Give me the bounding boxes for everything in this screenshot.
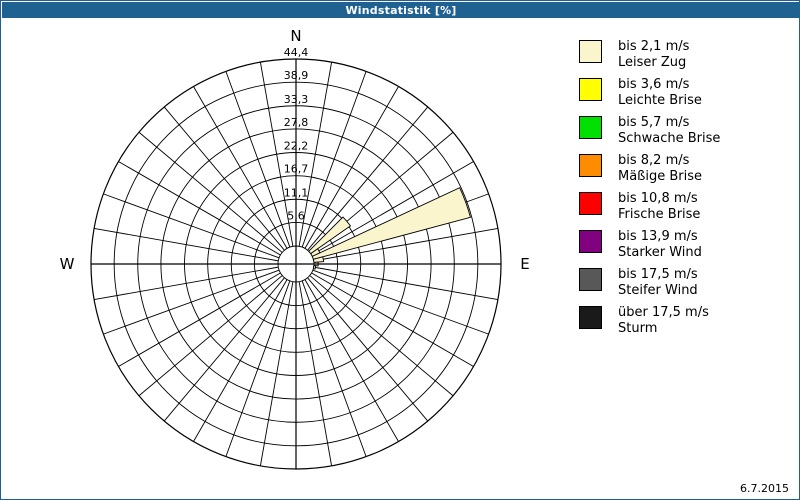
legend-swatch	[579, 230, 602, 253]
compass-label-north: N	[290, 27, 301, 45]
legend-name: Leiser Zug	[618, 55, 689, 71]
legend-swatch	[579, 116, 602, 139]
legend-speed: bis 13,9 m/s	[618, 229, 702, 245]
legend-item: bis 10,8 m/sFrische Brise	[579, 191, 793, 223]
legend-speed: bis 3,6 m/s	[618, 77, 702, 93]
legend-item: bis 17,5 m/sSteifer Wind	[579, 267, 793, 299]
grid-spoke	[314, 267, 498, 299]
compass-label-west: W	[60, 255, 75, 273]
grid-spoke	[299, 282, 331, 466]
r-tick-label: 27,8	[284, 116, 309, 129]
grid-spoke	[260, 282, 292, 466]
legend-item: bis 3,6 m/sLeichte Brise	[579, 77, 793, 109]
legend-item: bis 8,2 m/sMäßige Brise	[579, 153, 793, 185]
legend-label: bis 17,5 m/sSteifer Wind	[618, 267, 698, 299]
legend-label: bis 8,2 m/sMäßige Brise	[618, 153, 702, 185]
legend-label: bis 13,9 m/sStarker Wind	[618, 229, 702, 261]
r-tick-label: 16,7	[284, 163, 309, 176]
legend-name: Schwache Brise	[618, 131, 720, 147]
grid-spoke	[94, 228, 278, 260]
window-title-bar: Windstatistik [%]	[2, 2, 800, 18]
legend-item: über 17,5 m/sSturm	[579, 305, 793, 337]
legend-label: bis 2,1 m/sLeiser Zug	[618, 39, 689, 71]
legend-speed: bis 17,5 m/s	[618, 267, 698, 283]
windrose-svg: 5,611,116,722,227,833,338,944,4NESW	[2, 18, 562, 483]
grid-spoke	[139, 132, 282, 252]
grid-spoke	[94, 267, 278, 299]
grid-spoke	[139, 276, 282, 396]
grid-spoke	[164, 107, 284, 250]
legend-speed: bis 5,7 m/s	[618, 115, 720, 131]
legend-swatch	[579, 268, 602, 291]
legend-speed: bis 10,8 m/s	[618, 191, 700, 207]
legend-swatch	[579, 306, 602, 329]
grid-spoke	[310, 276, 453, 396]
r-tick-label: 44,4	[284, 46, 309, 59]
legend-swatch	[579, 192, 602, 215]
r-tick-label: 33,3	[284, 93, 309, 106]
r-tick-label: 5,6	[287, 209, 305, 222]
legend-swatch	[579, 78, 602, 101]
legend-name: Mäßige Brise	[618, 169, 702, 185]
date-stamp: 6.7.2015	[740, 482, 789, 495]
r-tick-label: 11,1	[284, 186, 309, 199]
rose-sector	[313, 266, 315, 270]
legend: bis 2,1 m/sLeiser Zugbis 3,6 m/sLeichte …	[579, 39, 793, 343]
r-tick-label: 22,2	[284, 140, 309, 153]
legend-name: Starker Wind	[618, 245, 702, 261]
legend-name: Sturm	[618, 321, 709, 337]
windrose-plot: 5,611,116,722,227,833,338,944,4NESW	[2, 18, 562, 483]
legend-item: bis 13,9 m/sStarker Wind	[579, 229, 793, 261]
legend-name: Frische Brise	[618, 207, 700, 223]
grid-spoke	[308, 278, 428, 421]
legend-item: bis 2,1 m/sLeiser Zug	[579, 39, 793, 71]
legend-swatch	[579, 154, 602, 177]
legend-speed: über 17,5 m/s	[618, 305, 709, 321]
grid-spoke	[164, 278, 284, 421]
legend-label: bis 10,8 m/sFrische Brise	[618, 191, 700, 223]
r-tick-label: 38,9	[284, 69, 309, 82]
legend-speed: bis 8,2 m/s	[618, 153, 702, 169]
legend-item: bis 5,7 m/sSchwache Brise	[579, 115, 793, 147]
legend-label: bis 5,7 m/sSchwache Brise	[618, 115, 720, 147]
legend-name: Steifer Wind	[618, 283, 698, 299]
legend-name: Leichte Brise	[618, 93, 702, 109]
window-title: Windstatistik [%]	[345, 4, 456, 17]
legend-swatch	[579, 40, 602, 63]
legend-label: bis 3,6 m/sLeichte Brise	[618, 77, 702, 109]
compass-label-east: E	[520, 255, 529, 273]
legend-speed: bis 2,1 m/s	[618, 39, 689, 55]
window-frame: Windstatistik [%] 5,611,116,722,227,833,…	[0, 0, 800, 500]
legend-label: über 17,5 m/sSturm	[618, 305, 709, 337]
